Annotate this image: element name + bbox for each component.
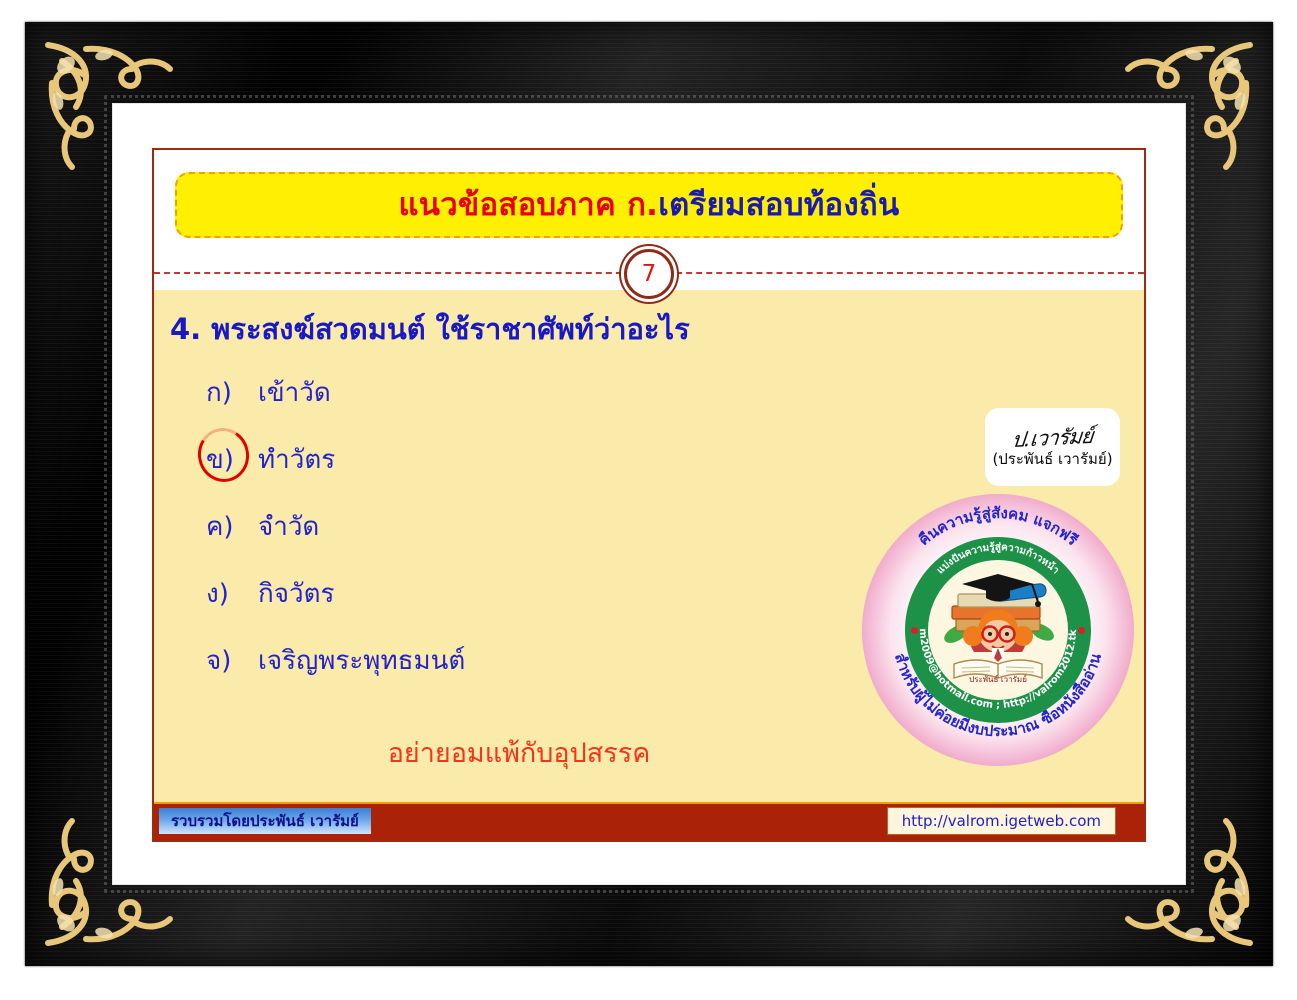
choice-label: จำวัด [258, 506, 319, 547]
choice-item[interactable]: ง) กิจวัตร [206, 573, 465, 614]
choice-label: เจริญพระพุทธมนต์ [258, 640, 465, 681]
choice-item[interactable]: ก) เข้าวัด [206, 372, 465, 413]
logo-core-caption: ประพันธ์ เวารัมย์ [928, 673, 1068, 686]
choice-label: ทำวัตร [258, 439, 335, 480]
logo-inner-ring: แบ่งปันความรู้สู่ความก้าวหน้า 08-9860-87… [905, 537, 1091, 723]
question-text: 4. พระสงฆ์สวดมนต์ ใช้ราชาศัพท์ว่าอะไร [170, 306, 690, 352]
page-title: แนวข้อสอบภาค ก.เตรียมสอบท้องถิ่น [399, 190, 900, 221]
logo-dot-left [911, 627, 918, 634]
choice-label: เข้าวัด [258, 372, 331, 413]
choice-item[interactable]: ค) จำวัด [206, 506, 465, 547]
footer-url-text: http://valrom.igetweb.com [902, 814, 1101, 829]
choice-marker: ก) [206, 372, 258, 413]
footer-credit-box: รวบรวมโดยประพันธ์ เวารัมย์ [159, 808, 371, 834]
choice-item-selected[interactable]: ข) ทำวัตร [206, 439, 465, 480]
choice-marker: ค) [206, 506, 258, 547]
choice-marker: ง) [206, 573, 258, 614]
signature-handwriting: ป.เวารัมย์ [1011, 425, 1094, 450]
page-number-value: 7 [642, 263, 657, 286]
page-number-badge: 7 [624, 249, 674, 299]
title-segment-blue: เตรียมสอบท้องถิ่น [658, 187, 899, 223]
signature-box: ป.เวารัมย์ (ประพันธ์ เวารัมย์) [985, 408, 1120, 486]
logo-core-illustration: ประพันธ์ เวารัมย์ [928, 560, 1068, 700]
choice-marker-circled: ข) [206, 439, 258, 480]
title-segment-red: แนวข้อสอบภาค ก. [399, 187, 659, 223]
slide-content: แนวข้อสอบภาค ก.เตรียมสอบท้องถิ่น 7 4. พร… [152, 148, 1146, 842]
signature-name: (ประพันธ์ เวารัมย์) [992, 452, 1112, 467]
choice-marker: จ) [206, 640, 258, 681]
slide-footer: รวบรวมโดยประพันธ์ เวารัมย์ http://valrom… [154, 802, 1144, 840]
footer-credit-text: รวบรวมโดยประพันธ์ เวารัมย์ [171, 814, 359, 829]
title-banner: แนวข้อสอบภาค ก.เตรียมสอบท้องถิ่น [175, 172, 1123, 238]
choice-item[interactable]: จ) เจริญพระพุทธมนต์ [206, 640, 465, 681]
logo-dot-right [1078, 627, 1085, 634]
slide-body: 4. พระสงฆ์สวดมนต์ ใช้ราชาศัพท์ว่าอะไร ก)… [154, 290, 1144, 802]
footer-url-box[interactable]: http://valrom.igetweb.com [887, 807, 1116, 835]
choice-list: ก) เข้าวัด ข) ทำวัตร ค) จำวัด ง) กิจวัตร… [206, 372, 465, 707]
organization-logo: คืนความรู้สู่สังคม แจกฟรี สำหรับผู้ไม่ค่… [862, 494, 1134, 766]
choice-label: กิจวัตร [258, 573, 334, 614]
